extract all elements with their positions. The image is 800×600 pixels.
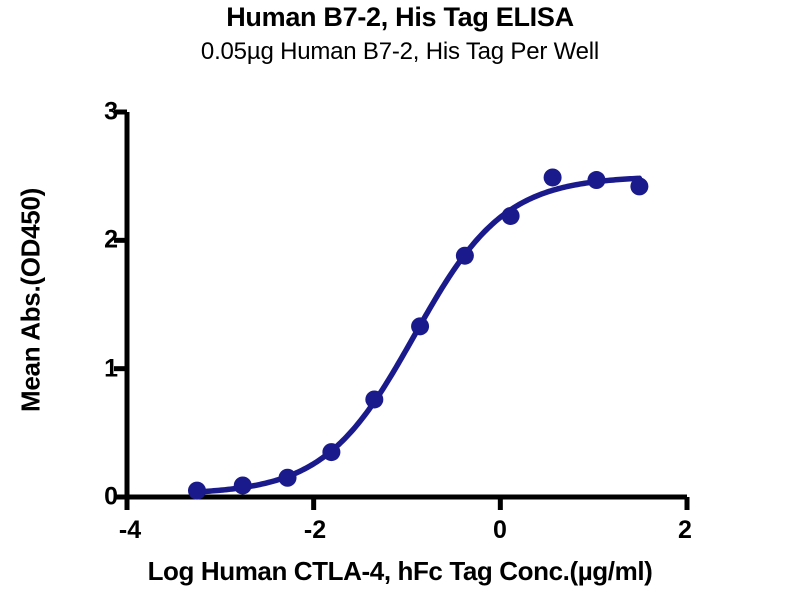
data-point (279, 469, 297, 487)
data-point (188, 482, 206, 500)
data-point (502, 207, 520, 225)
chart-figure: Human B7-2, His Tag ELISA 0.05µg Human B… (0, 0, 800, 600)
data-point (544, 168, 562, 186)
axis-lines (127, 112, 687, 497)
data-point (456, 247, 474, 265)
data-point (587, 171, 605, 189)
data-point (411, 317, 429, 335)
data-point (630, 177, 648, 195)
data-point (365, 390, 383, 408)
data-point (234, 476, 252, 494)
data-point (322, 443, 340, 461)
plot-area (0, 0, 800, 600)
data-point-group (188, 168, 648, 499)
